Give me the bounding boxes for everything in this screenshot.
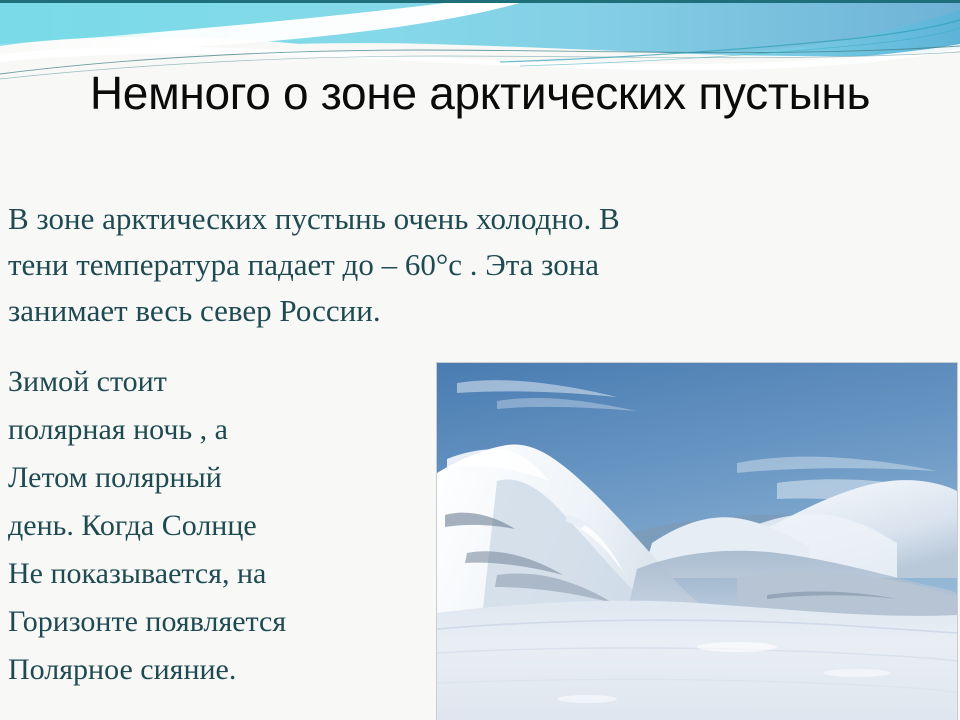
snow-highlight-1 [697,642,777,652]
paragraph-seasons-line-3: Летом полярный [8,454,428,502]
page-title: Немного о зоне арктических пустынь [0,62,960,124]
slide: Немного о зоне арктических пустынь В зон… [0,0,960,720]
top-rule [0,0,960,3]
paragraph-seasons-line-7: Полярное сияние. [8,646,428,694]
paragraph-intro-line-1: В зоне арктических пустынь очень холодно… [8,196,952,242]
snow-highlight-3 [823,669,891,677]
paragraph-seasons-line-6: Горизонте появляется [8,598,428,646]
snowfield [437,601,957,720]
paragraph-seasons-line-1: Зимой стоит [8,358,428,406]
paragraph-seasons-line-2: полярная ночь , а [8,406,428,454]
paragraph-seasons-line-4: день. Когда Солнце [8,502,428,550]
snow-highlight-2 [557,695,617,703]
paragraph-intro-line-2: тени температура падает до – 60°с . Эта … [8,242,952,288]
photo-graphic [437,363,957,720]
paragraph-intro-line-3: занимает весь север России. [8,288,952,334]
paragraph-seasons: Зимой стоит полярная ночь , а Летом поля… [8,358,428,694]
paragraph-intro: В зоне арктических пустынь очень холодно… [8,196,952,334]
page-title-text: Немного о зоне арктических пустынь [90,67,870,119]
arctic-snow-mountains-photo [437,363,957,720]
paragraph-seasons-line-5: Не показывается, на [8,550,428,598]
